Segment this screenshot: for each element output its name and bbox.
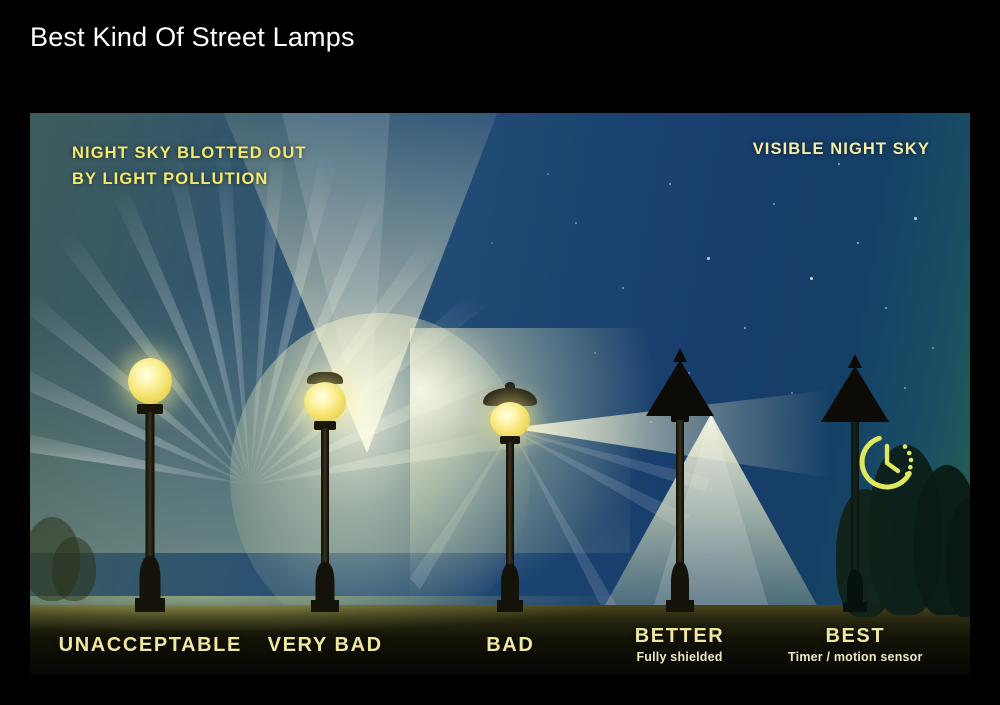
lamp-base-upper — [316, 562, 335, 602]
page-title: Best Kind Of Street Lamps — [30, 22, 355, 53]
lamp-full-shield-cone — [646, 360, 714, 416]
lamp-base — [135, 598, 165, 612]
lamp-full-shield-cone-off — [821, 366, 889, 422]
rating-sublabel: Timer / motion sensor — [788, 650, 923, 664]
tree-shape — [836, 489, 894, 617]
label-light-pollution-line1: NIGHT SKY BLOTTED OUT — [72, 140, 307, 166]
rating-sublabel: Fully shielded — [635, 650, 725, 664]
rating-better: BETTER Fully shielded — [635, 625, 725, 664]
rating-unacceptable: UNACCEPTABLE — [59, 634, 242, 657]
lamp-shade-finial — [505, 382, 515, 390]
street-lamp-infographic: NIGHT SKY BLOTTED OUT BY LIGHT POLLUTION… — [30, 113, 970, 675]
lamp-base-upper — [671, 562, 689, 602]
tree-shape — [52, 537, 96, 601]
lamp4-downward-light-cone — [596, 406, 826, 621]
rating-very-bad: VERY BAD — [268, 634, 383, 657]
lamp-base-upper — [140, 556, 161, 600]
label-light-pollution: NIGHT SKY BLOTTED OUT BY LIGHT POLLUTION — [72, 140, 307, 192]
lamp-base-upper — [501, 564, 519, 602]
rating-label: UNACCEPTABLE — [59, 634, 242, 657]
label-visible-night-sky: VISIBLE NIGHT SKY — [753, 140, 930, 159]
lamp-base-upper — [847, 570, 863, 604]
lamp-globe-unshielded — [128, 358, 172, 404]
rating-label: VERY BAD — [268, 634, 383, 657]
rating-label: BEST — [788, 625, 923, 648]
clock-timer-icon — [856, 431, 918, 493]
lamp2-halo — [230, 313, 530, 643]
label-light-pollution-line2: BY LIGHT POLLUTION — [72, 166, 307, 192]
rating-bad: BAD — [486, 634, 534, 657]
rating-label: BAD — [486, 634, 534, 657]
rating-label: BETTER — [635, 625, 725, 648]
rating-best: BEST Timer / motion sensor — [788, 625, 923, 664]
lamp-globe-partial — [490, 402, 530, 438]
lamp-globe-capped — [304, 382, 346, 422]
